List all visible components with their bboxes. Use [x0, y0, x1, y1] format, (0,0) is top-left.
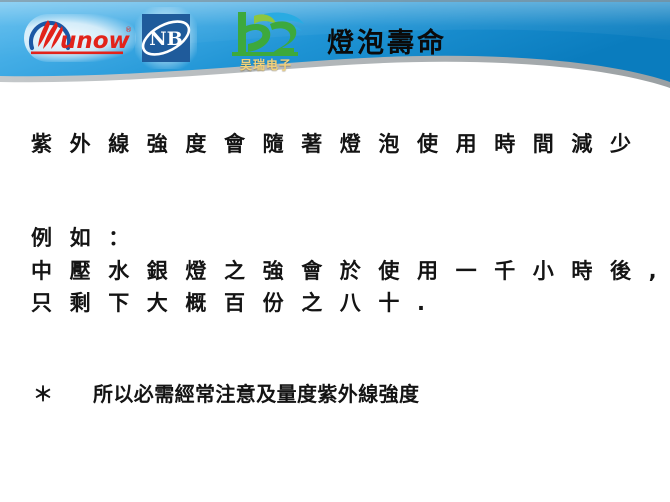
body-line-4: 只剩下大概百份之八十.: [31, 287, 443, 317]
wurui-logo-wordmark: 吴瑞电子: [226, 56, 306, 73]
nb-logo: NB: [140, 12, 192, 64]
bullet-asterisk: ＊: [33, 382, 93, 406]
page-title: 燈泡壽命: [327, 21, 447, 60]
body-line-2: 例如：: [31, 222, 147, 252]
body-line-5: ＊所以必需經常注意及量度紫外線強度: [33, 378, 419, 407]
svg-text:®: ®: [125, 26, 132, 34]
slide-body: 紫外線強度會隨著燈泡使用時間減少 例如： 中壓水銀燈之強會於使用一千小時後, 只…: [0, 95, 670, 502]
svg-text:NB: NB: [149, 28, 182, 50]
sunow-logo: unow ®: [24, 14, 136, 62]
body-line-1: 紫外線強度會隨著燈泡使用時間減少: [31, 128, 649, 158]
header-banner: unow ® NB: [0, 0, 670, 95]
wurui-logo: 吴瑞电子: [224, 8, 308, 78]
svg-text:unow: unow: [60, 28, 131, 54]
sunow-logo-graphic: unow ®: [24, 14, 136, 62]
wurui-logo-graphic: [224, 8, 308, 60]
slide-canvas: unow ® NB: [0, 0, 670, 502]
nb-logo-graphic: NB: [140, 12, 192, 64]
body-line-3: 中壓水銀燈之強會於使用一千小時後,: [31, 255, 670, 285]
body-line-5-text: 所以必需經常注意及量度紫外線強度: [93, 382, 419, 406]
